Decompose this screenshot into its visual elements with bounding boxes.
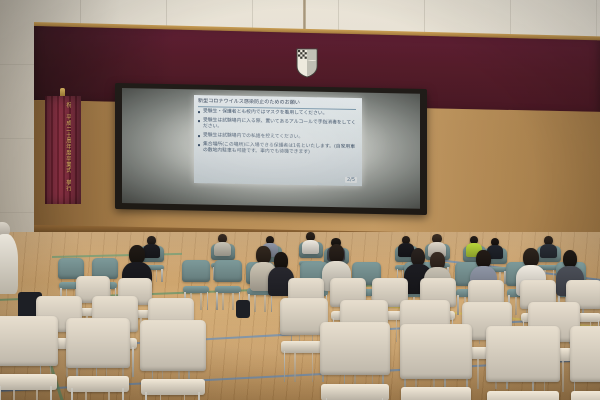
chair-leg — [156, 270, 158, 282]
chair-back — [182, 260, 210, 282]
chair — [214, 260, 242, 296]
projected-slide: 新型コロナウイルス感染防止のためのお願い 受験生・保護者とも校内ではマスクを着用… — [194, 95, 362, 186]
chair-leg — [264, 295, 266, 312]
chair-leg — [145, 392, 147, 400]
chair-leg — [184, 395, 186, 400]
chair-back — [400, 324, 472, 379]
chair-leg — [457, 295, 459, 315]
chair-seat — [183, 286, 210, 293]
chair-seat — [401, 387, 470, 400]
slide-bullet: 受験生・保護者とも校内ではマスクを着用してください。 — [198, 109, 358, 118]
attendee — [214, 234, 231, 256]
chair-leg — [294, 353, 296, 382]
chair-back — [486, 326, 560, 382]
head — [329, 244, 344, 263]
chair — [140, 320, 206, 400]
chair-seat — [67, 376, 128, 392]
chair-leg — [562, 361, 564, 392]
attendee — [0, 222, 18, 294]
slide-bullet: 集合場所(この場所)に入場できる保護者は1名といたします。(自家用車の敷地内駐車… — [198, 142, 358, 158]
chair-back — [570, 326, 600, 382]
torso — [214, 242, 231, 256]
school-crest-icon — [295, 48, 319, 78]
chair-seat — [571, 391, 600, 400]
chair-seat — [141, 379, 204, 395]
chair-leg — [85, 392, 87, 400]
chair-leg — [477, 359, 479, 389]
chair — [182, 260, 210, 296]
chair-leg — [284, 351, 286, 382]
chair-leg — [515, 297, 517, 315]
torso — [0, 234, 18, 294]
chair-leg — [200, 293, 202, 310]
attendee — [302, 232, 319, 254]
slide-bullet: 受験生は試験場内での私語を控えてください。 — [198, 133, 358, 142]
chair-leg — [36, 390, 38, 400]
slide-page-indicator: 2/5 — [345, 177, 357, 183]
bag — [236, 300, 250, 318]
chair-back — [140, 320, 206, 371]
slide-bullet-list: 受験生・保護者とも校内ではマスクを着用してください。 受験生は試験場内に入る際、… — [198, 109, 358, 160]
chair — [0, 316, 58, 396]
chair-back — [320, 322, 390, 375]
slide-bullet: 受験生は試験場内に入る際、置いてあるアルコールで手指消毒をしてください。 — [198, 118, 358, 134]
chair-seat — [0, 374, 57, 390]
chair-leg — [13, 390, 15, 400]
chair — [486, 326, 560, 400]
gymnasium-photo: 祝 平成二十周年度卒業式 挙行 新型コロナウイルス感染防止のためのお願い 受験生… — [0, 0, 600, 400]
chair-leg — [396, 320, 398, 342]
banner-text: 祝 平成二十周年度卒業式 挙行 — [55, 102, 71, 198]
chair-seat — [487, 391, 558, 400]
chair-leg — [108, 392, 110, 400]
chair-leg — [271, 294, 273, 313]
chair-leg — [222, 293, 224, 310]
chair — [400, 324, 472, 400]
chair — [320, 322, 390, 400]
chair — [570, 326, 600, 400]
chair-leg — [207, 292, 209, 311]
chair-leg — [0, 386, 1, 400]
chair-back — [214, 260, 242, 282]
chair-leg — [312, 353, 314, 382]
chair-leg — [198, 392, 200, 400]
chair-leg — [216, 292, 218, 311]
chair-leg — [161, 269, 163, 283]
chair-seat — [321, 384, 388, 400]
chair-leg — [254, 295, 256, 312]
chair-leg — [50, 386, 52, 400]
chair-back — [0, 316, 58, 366]
chair-leg — [132, 347, 134, 377]
torso — [302, 240, 319, 254]
chair-seat — [215, 286, 242, 293]
chair-back — [66, 318, 130, 368]
chair-leg — [232, 293, 234, 310]
chair — [66, 318, 130, 398]
chair-leg — [122, 388, 124, 400]
slide-title: 新型コロナウイルス感染防止のためのお願い — [198, 98, 356, 110]
chair-leg — [71, 388, 73, 400]
chair-leg — [160, 395, 162, 400]
